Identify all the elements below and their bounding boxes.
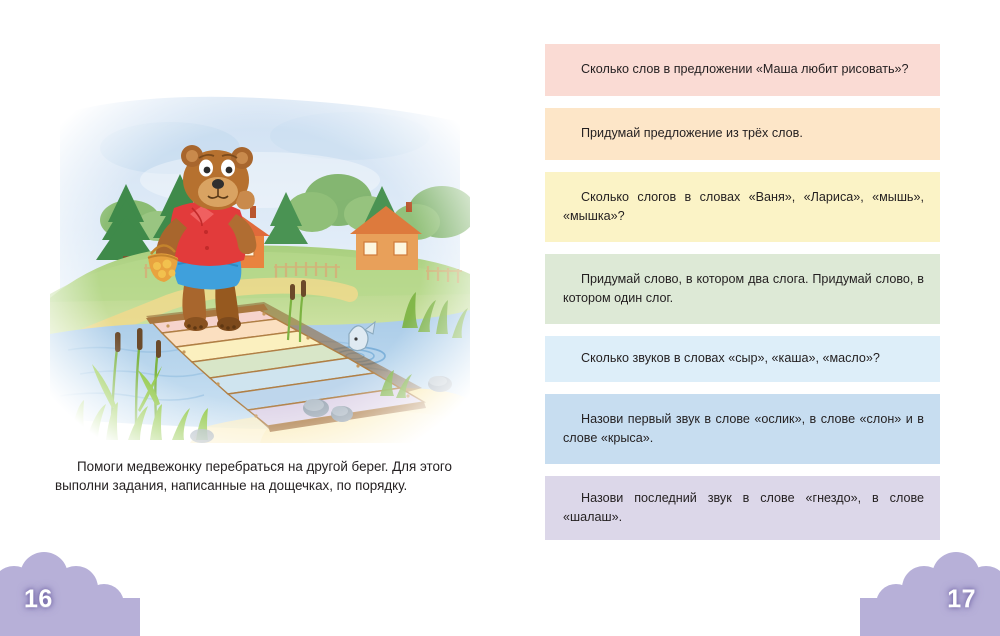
task-text: Сколько звуков в словах «сыр», «каша», «… (545, 349, 940, 369)
task-list: Сколько слов в предложении «Маша любит р… (545, 44, 940, 552)
page-number-left: 16 (24, 585, 53, 614)
task-item[interactable]: Сколько слов в предложении «Маша любит р… (545, 44, 940, 96)
instruction-caption: Помоги медвежонку перебраться на другой … (55, 457, 465, 495)
task-text: Придумай слово, в котором два слога. При… (545, 270, 940, 309)
task-text: Сколько слов в предложении «Маша любит р… (545, 60, 940, 80)
task-item[interactable]: Сколько слогов в словах «Ваня», «Лариса»… (545, 172, 940, 242)
task-item[interactable]: Придумай слово, в котором два слога. При… (545, 254, 940, 324)
bear-crossing-bridge-illustration (50, 88, 470, 443)
task-item[interactable]: Назови последний звук в слове «гнездо», … (545, 476, 940, 540)
workbook-spread: Помоги медвежонку перебраться на другой … (0, 0, 1000, 636)
task-item[interactable]: Сколько звуков в словах «сыр», «каша», «… (545, 336, 940, 382)
page-corner-decoration-left (0, 548, 140, 636)
task-text: Сколько слогов в словах «Ваня», «Лариса»… (545, 188, 940, 227)
page-number-right: 17 (947, 585, 976, 614)
page-corner-decoration-right (860, 548, 1000, 636)
task-text: Назови последний звук в слове «гнездо», … (545, 489, 940, 528)
task-text: Назови первый звук в слове «ослик», в сл… (545, 410, 940, 449)
left-page: Помоги медвежонку перебраться на другой … (0, 0, 500, 636)
task-text: Придумай предложение из трёх слов. (545, 124, 940, 144)
right-page: Сколько слов в предложении «Маша любит р… (500, 0, 1000, 636)
task-item[interactable]: Придумай предложение из трёх слов. (545, 108, 940, 160)
task-item[interactable]: Назови первый звук в слове «ослик», в сл… (545, 394, 940, 464)
